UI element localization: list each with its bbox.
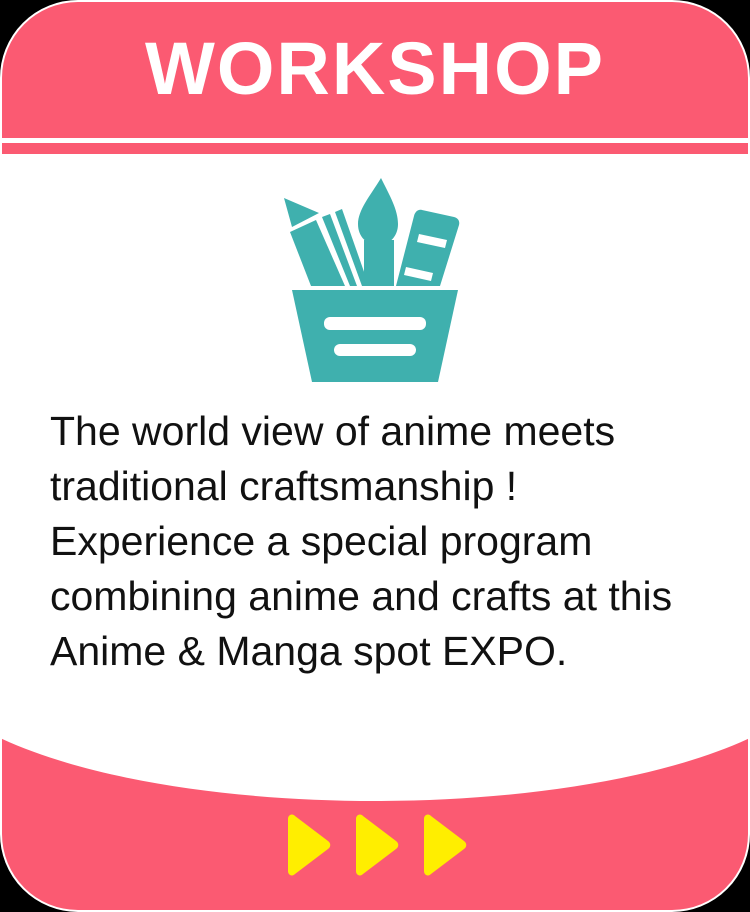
workshop-card[interactable]: WORKSHOP — [0, 0, 750, 912]
description-line-5: Anime & Manga spot EXPO. — [50, 624, 730, 679]
play-arrow-1-icon[interactable] — [282, 814, 332, 876]
next-arrows[interactable] — [0, 814, 750, 876]
page-title: WORKSHOP — [2, 2, 748, 136]
description-line-4: combining anime and crafts at this — [50, 569, 730, 624]
pencil-cup-craft-icon — [270, 174, 480, 386]
description-line-2: traditional craftsmanship ! — [50, 459, 730, 514]
description-line-1: The world view of anime meets — [50, 404, 730, 459]
play-arrow-2-icon[interactable] — [350, 814, 400, 876]
card-footer[interactable] — [0, 730, 750, 912]
description-text: The world view of anime meets traditiona… — [50, 404, 730, 679]
play-arrow-3-icon[interactable] — [418, 814, 468, 876]
icon-container — [2, 174, 748, 386]
card-header: WORKSHOP — [2, 2, 748, 154]
header-divider — [2, 138, 748, 143]
description-line-3: Experience a special program — [50, 514, 730, 569]
